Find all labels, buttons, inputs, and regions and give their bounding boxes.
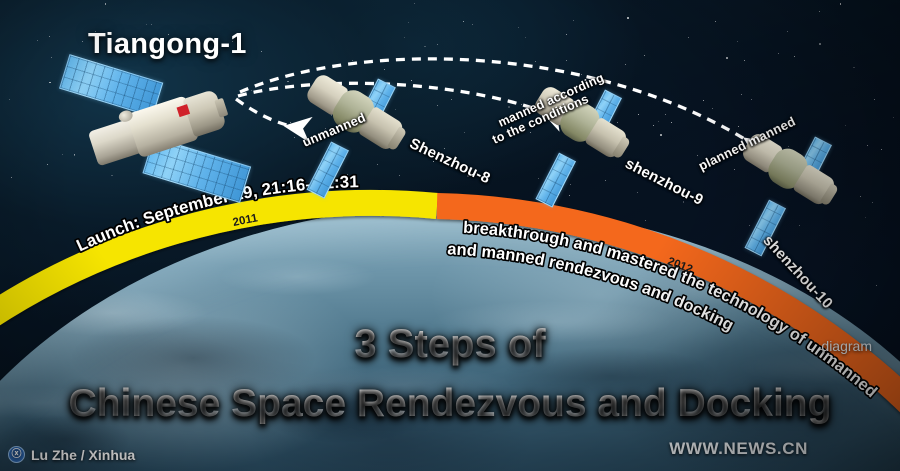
tiangong-1-label: Tiangong-1 xyxy=(88,28,247,61)
shenzhou-9-solar-panel-lower xyxy=(535,153,576,208)
xinhua-badge-icon: ⓧ xyxy=(8,446,25,463)
headline-line-2: Chinese Space Rendezvous and Docking xyxy=(0,382,900,426)
photo-credit-text: Lu Zhe / Xinhua xyxy=(31,447,135,463)
diagram-note: diagram xyxy=(821,338,872,354)
headline-line-1: 3 Steps of xyxy=(0,322,900,367)
tiangong-1-spacecraft xyxy=(62,74,252,199)
infographic-canvas: Launch: September 29, 21:16–21:31 2011 b… xyxy=(0,0,900,471)
shenzhou-10-spacecraft xyxy=(732,142,858,260)
photo-credit: ⓧ Lu Zhe / Xinhua xyxy=(8,446,135,463)
site-watermark: WWW.NEWS.CN xyxy=(669,439,808,459)
shenzhou-8-solar-panel-lower xyxy=(307,141,349,198)
